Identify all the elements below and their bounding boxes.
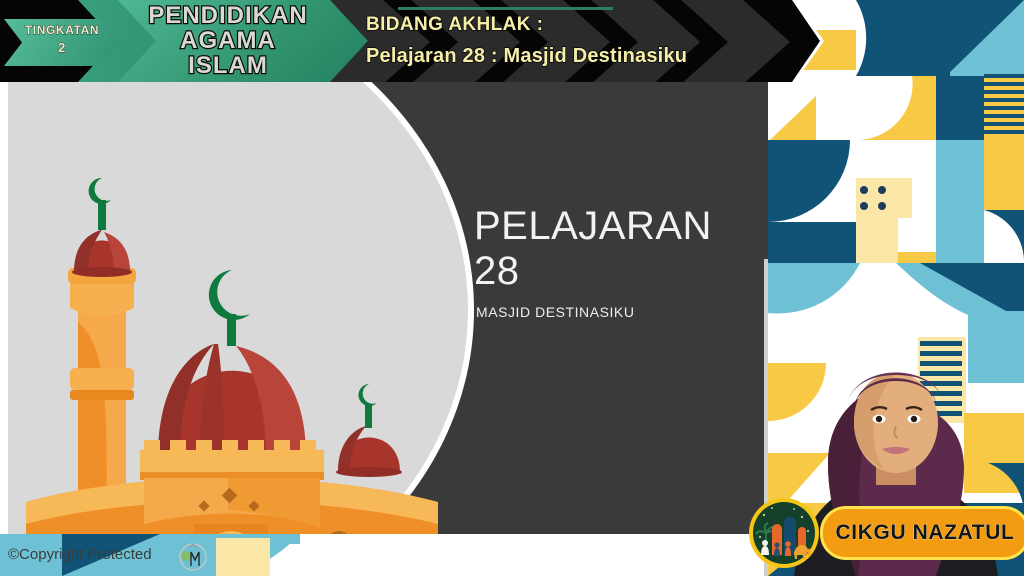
subject-line-3: ISLAM: [128, 54, 328, 79]
presenter-name-badge: CIKGU NAZATUL: [820, 506, 1024, 560]
slide-title: PELAJARAN 28: [474, 204, 764, 294]
mosque-illustration: [18, 172, 448, 534]
topic-area-label: BIDANG AKHLAK :: [366, 14, 543, 36]
slide-subtitle: MASJID DESTINASIKU: [476, 304, 756, 320]
subject-line-1: PENDIDIKAN: [128, 4, 328, 29]
subject-title: PENDIDIKAN AGAMA ISLAM: [128, 4, 328, 79]
slide-title-line1: PELAJARAN: [474, 204, 764, 249]
lesson-title-label: Pelajaran 28 : Masjid Destinasiku: [366, 45, 687, 68]
lesson-header-banner: TINGKATAN 2 PENDIDIKAN AGAMA ISLAM BIDAN…: [0, 0, 820, 82]
slide-content-area: PELAJARAN 28 MASJID DESTINASIKU: [8, 82, 768, 534]
tingkatan-value: 2: [10, 39, 114, 58]
minaret-left: [68, 178, 136, 527]
mosque-circle-logo: [748, 497, 820, 569]
main-dome: [158, 270, 306, 464]
presentation-screen: TINGKATAN 2 PENDIDIKAN AGAMA ISLAM BIDAN…: [0, 0, 1024, 576]
header-divider-rule: [398, 7, 613, 10]
copyright-text: ©Copyright Protected: [8, 546, 152, 563]
mosque-circle-logo-svg: [748, 497, 820, 569]
tingkatan-label: TINGKATAN: [25, 23, 99, 37]
form-level-text: TINGKATAN 2: [10, 22, 114, 58]
subject-line-2: AGAMA: [128, 29, 328, 54]
slide-title-line2: 28: [474, 249, 764, 294]
mosque-illustration-svg: [18, 172, 448, 534]
copyright-watermark-icon: [177, 540, 209, 572]
presenter-name: CIKGU NAZATUL: [836, 521, 1015, 545]
minaret-right-small: [336, 384, 402, 477]
